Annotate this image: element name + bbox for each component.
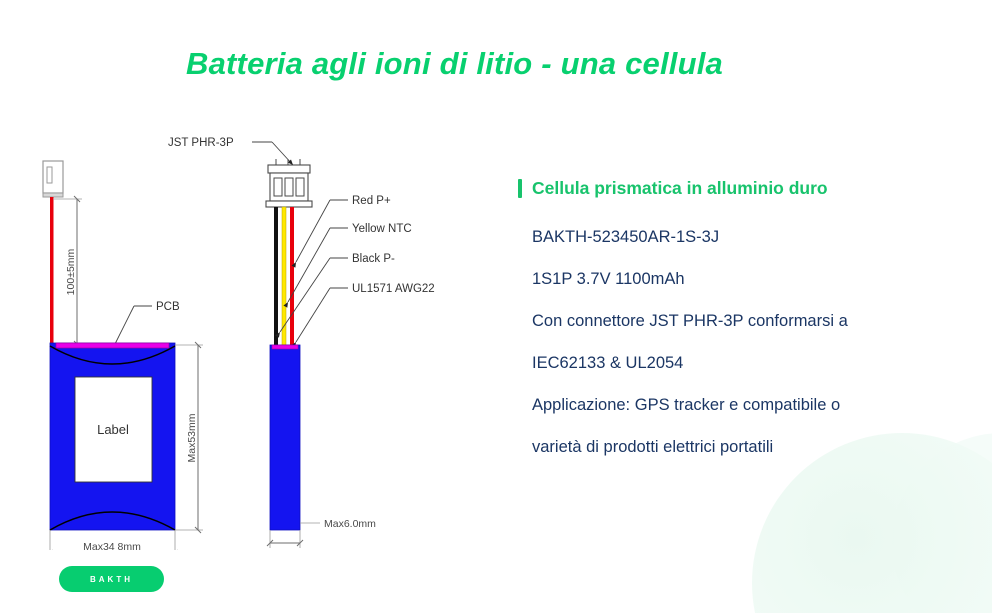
jst-connector-callout: JST PHR-3P [168,137,293,165]
front-view-connector-icon [43,161,63,197]
panel-headline-text: Cellula prismatica in alluminio duro [532,178,828,198]
cell-height-text: Max53mm [186,413,198,462]
pcb-strip [56,343,169,348]
slide-canvas: Batteria agli ioni di litio - una cellul… [0,0,992,613]
jst-connector-label: JST PHR-3P [168,137,234,149]
wire-callout-insulation-label: UL1571 AWG22 [352,283,435,295]
cell-label-text: Label [97,422,129,437]
pcb-callout: PCB [114,301,180,346]
side-view-pcb-strip [272,345,298,349]
bakth-logo-button[interactable]: BAKTH [59,566,164,592]
spec-line-connector: Con connettore JST PHR-3P conformarsi a [518,300,978,342]
accent-bar-icon [518,179,522,198]
red-wire [290,207,294,345]
cell-width-dimension: Max34 8mm [50,530,175,550]
wire-callout-yellow-label: Yellow NTC [352,223,412,235]
black-wire [274,207,278,345]
wire-length-dimension: 100±5mm [53,199,82,344]
wire-callout-black-label: Black P- [352,253,395,265]
side-view-cell-body [270,345,300,530]
spec-line-application: Applicazione: GPS tracker e compatibile … [518,384,978,426]
spec-line-standards: IEC62133 & UL2054 [518,342,978,384]
wire-callout-red-label: Red P+ [352,195,391,207]
product-description-panel: Cellula prismatica in alluminio duro BAK… [518,176,978,468]
cell-thickness-text: Max6.0mm [324,518,376,530]
cell-height-dimension: Max53mm [175,345,203,530]
front-view-red-wire [50,197,54,344]
front-view-cell-body: Label [50,343,175,530]
pcb-label: PCB [156,301,180,313]
jst-phr-3p-connector [266,159,312,207]
panel-headline: Cellula prismatica in alluminio duro [518,176,978,200]
bakth-logo-text: BAKTH [90,575,133,584]
battery-technical-drawing: 100±5mm PCB Label [0,120,500,550]
wire-length-text: 100±5mm [65,248,77,295]
spec-line-model: BAKTH-523450AR-1S-3J [518,216,978,258]
page-title: Batteria agli ioni di litio - una cellul… [186,46,723,82]
spec-line-capacity: 1S1P 3.7V 1100mAh [518,258,978,300]
spec-line-application-cont: varietà di prodotti elettrici portatili [518,426,978,468]
wire-callout-insulation: UL1571 AWG22 [296,283,435,342]
cell-width-text: Max34 8mm [83,541,141,550]
